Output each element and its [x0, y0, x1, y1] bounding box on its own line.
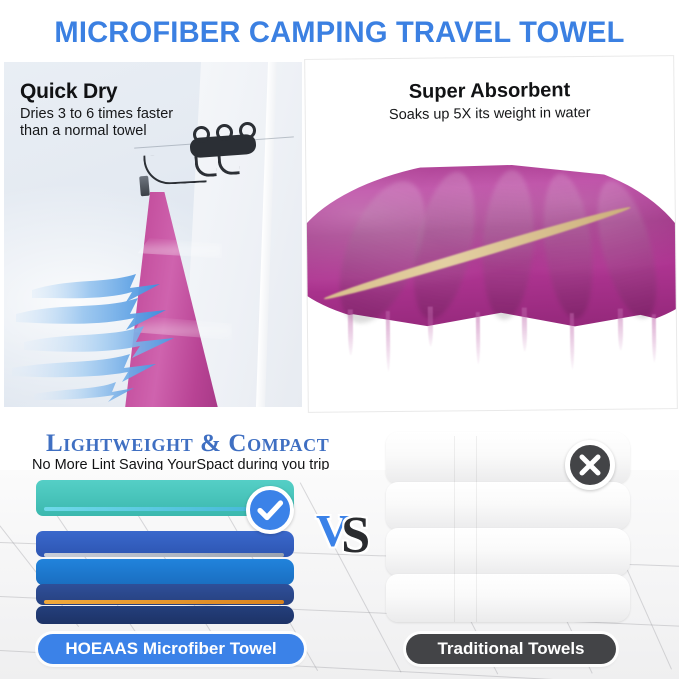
water-drip	[386, 311, 391, 371]
versus-label: VS	[316, 500, 374, 559]
airflow-arrows-icon	[10, 268, 200, 407]
panel-super-absorbent: Super Absorbent Soaks up 5X its weight i…	[305, 56, 677, 412]
water-drip	[570, 313, 575, 369]
water-drip	[618, 309, 623, 351]
water-drip	[428, 307, 433, 347]
quick-dry-subtext: Dries 3 to 6 times faster than a normal …	[20, 106, 220, 140]
towel-trim-orange	[44, 600, 284, 604]
towel-trim	[44, 553, 284, 557]
x-circle-icon	[565, 440, 615, 490]
water-drip	[522, 308, 527, 352]
towel-clip-icon	[139, 176, 150, 197]
towel-layer-dark-navy	[36, 606, 294, 624]
towel-wire	[143, 152, 206, 185]
quick-dry-subtext-line2: than a normal towel	[20, 123, 147, 139]
versus-s: S	[341, 507, 368, 564]
towel-layer-bright-blue	[36, 559, 294, 585]
water-drip	[476, 312, 481, 364]
traditional-towels-label: Traditional Towels	[406, 634, 616, 664]
water-drip	[348, 309, 353, 355]
hoeaas-microfiber-label: HOEAAS Microfiber Towel	[38, 634, 304, 664]
page-title: MICROFIBER CAMPING TRAVEL TOWEL	[10, 16, 669, 50]
white-towel-layer	[386, 528, 630, 576]
water-drip	[652, 314, 657, 362]
white-towel-layer	[386, 574, 630, 622]
panel-quick-dry: Quick Dry Dries 3 to 6 times faster than…	[4, 62, 302, 407]
infographic-page: MICROFIBER CAMPING TRAVEL TOWEL	[0, 0, 679, 679]
quick-dry-heading: Quick Dry	[20, 80, 117, 104]
lightweight-heading: Lightweight & Compact	[46, 430, 329, 458]
super-absorbent-heading: Super Absorbent	[305, 78, 673, 105]
quick-dry-subtext-line1: Dries 3 to 6 times faster	[20, 106, 173, 122]
super-absorbent-subtext: Soaks up 5X its weight in water	[306, 104, 674, 124]
check-circle-icon	[246, 486, 294, 534]
